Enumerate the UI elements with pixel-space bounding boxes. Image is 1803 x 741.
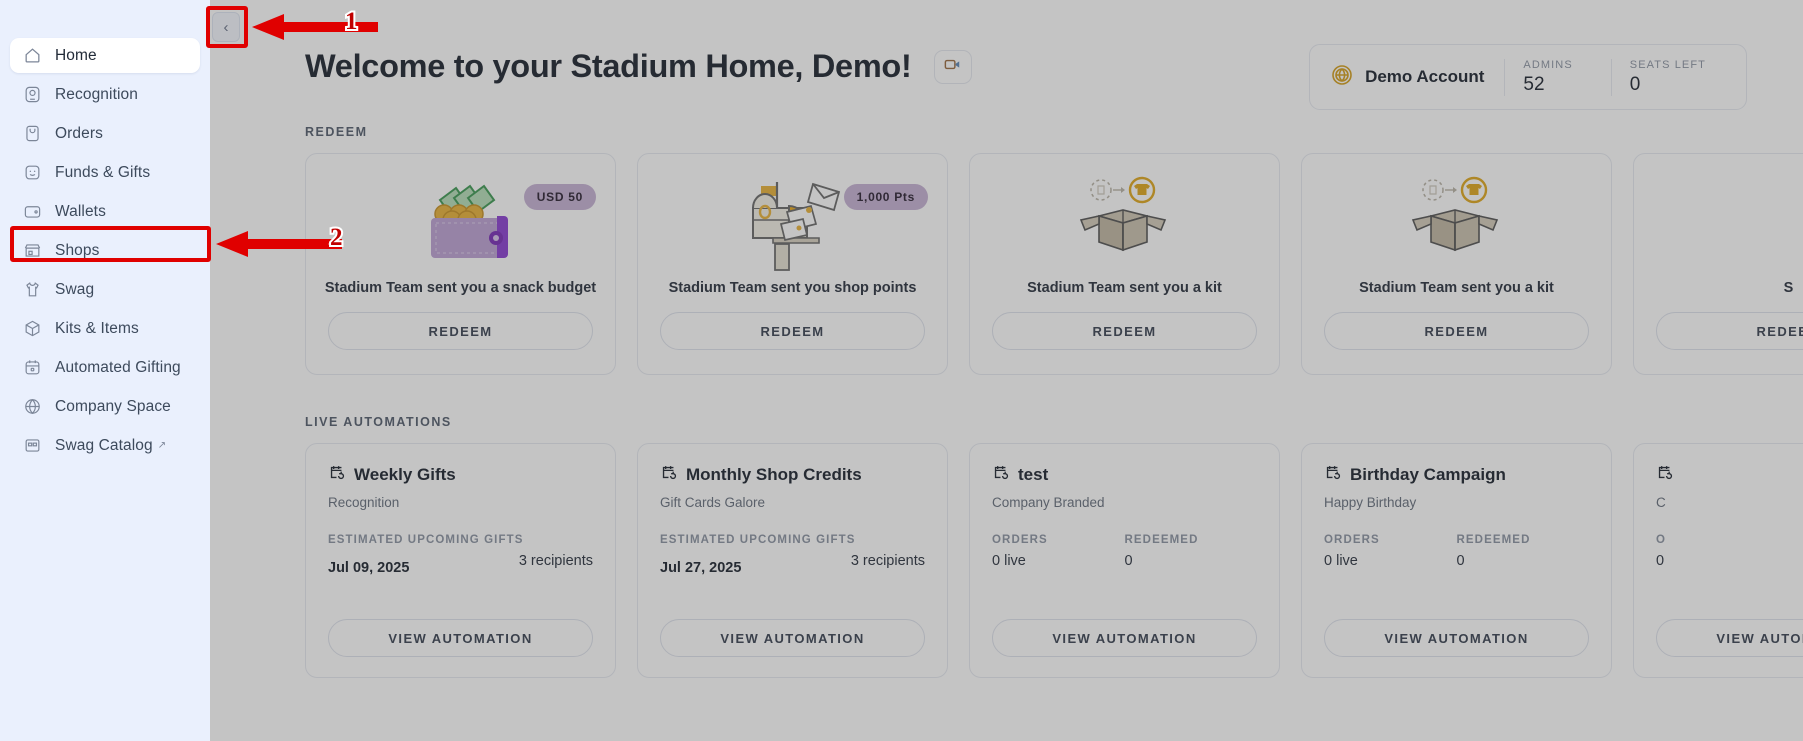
sidebar-item-wallets[interactable]: Wallets: [10, 194, 200, 229]
redeem-card[interactable]: S REDEEM: [1633, 153, 1803, 375]
automation-subtitle: Gift Cards Galore: [660, 495, 925, 510]
sidebar-item-funds-and-gifts[interactable]: Funds & Gifts: [10, 155, 200, 190]
sidebar-item-label: Funds & Gifts: [55, 164, 150, 182]
page-title: Welcome to your Stadium Home, Demo!: [305, 48, 912, 85]
sidebar-item-label: Automated Gifting: [55, 359, 181, 377]
external-link-icon: ↗: [158, 440, 166, 451]
automation-title: Monthly Shop Credits: [686, 465, 862, 485]
home-icon: [23, 46, 42, 65]
redeem-card-title: Stadium Team sent you a kit: [1027, 280, 1222, 296]
catalog-grid-icon: [23, 436, 42, 455]
automation-card[interactable]: test Company Branded ORDERS 0 live REDEE…: [969, 443, 1280, 678]
sidebar-item-label: Recognition: [55, 86, 138, 104]
calendar-refresh-icon: [1324, 464, 1341, 486]
sidebar-item-company-space[interactable]: Company Space: [10, 389, 200, 424]
view-automation-button[interactable]: VIEW AUTOMATION: [1656, 619, 1803, 657]
metric-key: REDEEMED: [1125, 534, 1258, 546]
storefront-icon: [23, 241, 42, 260]
automation-subtitle: Company Branded: [992, 495, 1257, 510]
coin-globe-icon: [1330, 63, 1354, 92]
metric-value: 0 live: [992, 553, 1125, 569]
stat-label: ADMINS: [1523, 59, 1572, 71]
sidebar-item-automated-gifting[interactable]: Automated Gifting: [10, 350, 200, 385]
view-automation-button[interactable]: VIEW AUTOMATION: [992, 619, 1257, 657]
app-root: Home Recognition Orders Funds & Gifts Wa…: [0, 0, 1803, 741]
account-card[interactable]: Demo Account ADMINS 52 SEATS LEFT 0: [1309, 44, 1747, 110]
sidebar-item-home[interactable]: Home: [10, 38, 200, 73]
redeem-button[interactable]: REDEEM: [328, 312, 593, 350]
stat-value: 0: [1630, 74, 1706, 96]
automation-card[interactable]: C O 0 VIEW AUTOMATION: [1633, 443, 1803, 678]
redeem-card-row: USD 50: [305, 153, 1803, 375]
redeem-button[interactable]: REDEEM: [1324, 312, 1589, 350]
redeem-card-title: Stadium Team sent you a snack budget: [325, 280, 596, 296]
calendar-refresh-icon: [992, 464, 1009, 486]
stat-admins: ADMINS 52: [1504, 59, 1590, 96]
kit-box-art: [1656, 170, 1803, 274]
metric-value: 0 live: [1324, 553, 1457, 569]
sidebar-item-label: Company Space: [55, 398, 171, 416]
automation-subtitle: Happy Birthday: [1324, 495, 1589, 510]
account-name: Demo Account: [1365, 67, 1484, 87]
metric-key: ESTIMATED UPCOMING GIFTS: [660, 534, 925, 546]
sidebar-item-kits-and-items[interactable]: Kits & Items: [10, 311, 200, 346]
metric-recipients: 3 recipients: [851, 553, 925, 576]
calendar-icon: [23, 358, 42, 377]
metric-key: O: [1656, 534, 1803, 546]
automation-title: Weekly Gifts: [354, 465, 456, 485]
cube-icon: [23, 319, 42, 338]
calendar-refresh-icon: [328, 464, 345, 486]
sidebar-item-shops[interactable]: Shops: [10, 233, 200, 268]
redeem-button[interactable]: REDEEM: [992, 312, 1257, 350]
stat-value: 52: [1523, 74, 1572, 96]
sidebar-item-recognition[interactable]: Recognition: [10, 77, 200, 112]
automation-card[interactable]: Monthly Shop Credits Gift Cards Galore E…: [637, 443, 948, 678]
metric-value: 0: [1125, 553, 1258, 569]
redeem-section-label: REDEEM: [305, 125, 1803, 139]
automation-card[interactable]: Weekly Gifts Recognition ESTIMATED UPCOM…: [305, 443, 616, 678]
automation-subtitle: Recognition: [328, 495, 593, 510]
sidebar-item-label: Swag Catalog: [55, 437, 153, 455]
metric-key: REDEEMED: [1457, 534, 1590, 546]
metric-value: 0: [1457, 553, 1590, 569]
redeem-card-title: S: [1784, 280, 1794, 296]
sidebar-item-label: Wallets: [55, 203, 106, 221]
value-badge: USD 50: [524, 184, 596, 210]
stat-label: SEATS LEFT: [1630, 59, 1706, 71]
automations-section-label: LIVE AUTOMATIONS: [305, 415, 1803, 429]
sidebar-item-label: Shops: [55, 242, 99, 260]
sidebar-item-label: Swag: [55, 281, 94, 299]
metric-recipients: 3 recipients: [519, 553, 593, 576]
redeem-card[interactable]: 1,000 Pts: [637, 153, 948, 375]
calendar-refresh-icon: [1656, 464, 1673, 486]
sidebar-item-label: Orders: [55, 125, 103, 143]
automation-card[interactable]: Birthday Campaign Happy Birthday ORDERS …: [1301, 443, 1612, 678]
redeem-card[interactable]: USD 50: [305, 153, 616, 375]
view-automation-button[interactable]: VIEW AUTOMATION: [1324, 619, 1589, 657]
stat-seats-left: SEATS LEFT 0: [1611, 59, 1724, 96]
redeem-button[interactable]: REDEEM: [1656, 312, 1803, 350]
sidebar-item-label: Kits & Items: [55, 320, 139, 338]
video-tour-button[interactable]: [934, 50, 972, 84]
wallet-icon: [23, 202, 42, 221]
collapse-sidebar-button[interactable]: ‹: [212, 12, 240, 42]
metric-key: ORDERS: [992, 534, 1125, 546]
sidebar-item-swag-catalog[interactable]: Swag Catalog ↗: [10, 428, 200, 463]
view-automation-button[interactable]: VIEW AUTOMATION: [328, 619, 593, 657]
main-content: Welcome to your Stadium Home, Demo! REDE…: [210, 0, 1803, 741]
redeem-card[interactable]: Stadium Team sent you a kit REDEEM: [969, 153, 1280, 375]
metric-key: ESTIMATED UPCOMING GIFTS: [328, 534, 593, 546]
sidebar-item-orders[interactable]: Orders: [10, 116, 200, 151]
globe-icon: [23, 397, 42, 416]
metric-key: ORDERS: [1324, 534, 1457, 546]
medal-icon: [23, 85, 42, 104]
redeem-button[interactable]: REDEEM: [660, 312, 925, 350]
bag-icon: [23, 124, 42, 143]
metric-value: Jul 09, 2025: [328, 560, 519, 576]
calendar-refresh-icon: [660, 464, 677, 486]
video-camera-icon: [943, 55, 962, 79]
redeem-card[interactable]: Stadium Team sent you a kit REDEEM: [1301, 153, 1612, 375]
kit-box-art: [1324, 170, 1589, 274]
sidebar: Home Recognition Orders Funds & Gifts Wa…: [0, 0, 210, 741]
gift-face-icon: [23, 163, 42, 182]
kit-box-art: [992, 170, 1257, 274]
automation-subtitle: C: [1656, 495, 1803, 510]
value-badge: 1,000 Pts: [844, 184, 928, 210]
view-automation-button[interactable]: VIEW AUTOMATION: [660, 619, 925, 657]
sidebar-item-swag[interactable]: Swag: [10, 272, 200, 307]
redeem-card-title: Stadium Team sent you a kit: [1359, 280, 1554, 296]
metric-value: 0: [1656, 553, 1803, 569]
redeem-card-title: Stadium Team sent you shop points: [669, 280, 917, 296]
sidebar-item-label: Home: [55, 47, 97, 65]
metric-value: Jul 27, 2025: [660, 560, 851, 576]
tshirt-icon: [23, 280, 42, 299]
automations-card-row: Weekly Gifts Recognition ESTIMATED UPCOM…: [305, 443, 1803, 678]
automation-title: test: [1018, 465, 1048, 485]
automation-title: Birthday Campaign: [1350, 465, 1506, 485]
